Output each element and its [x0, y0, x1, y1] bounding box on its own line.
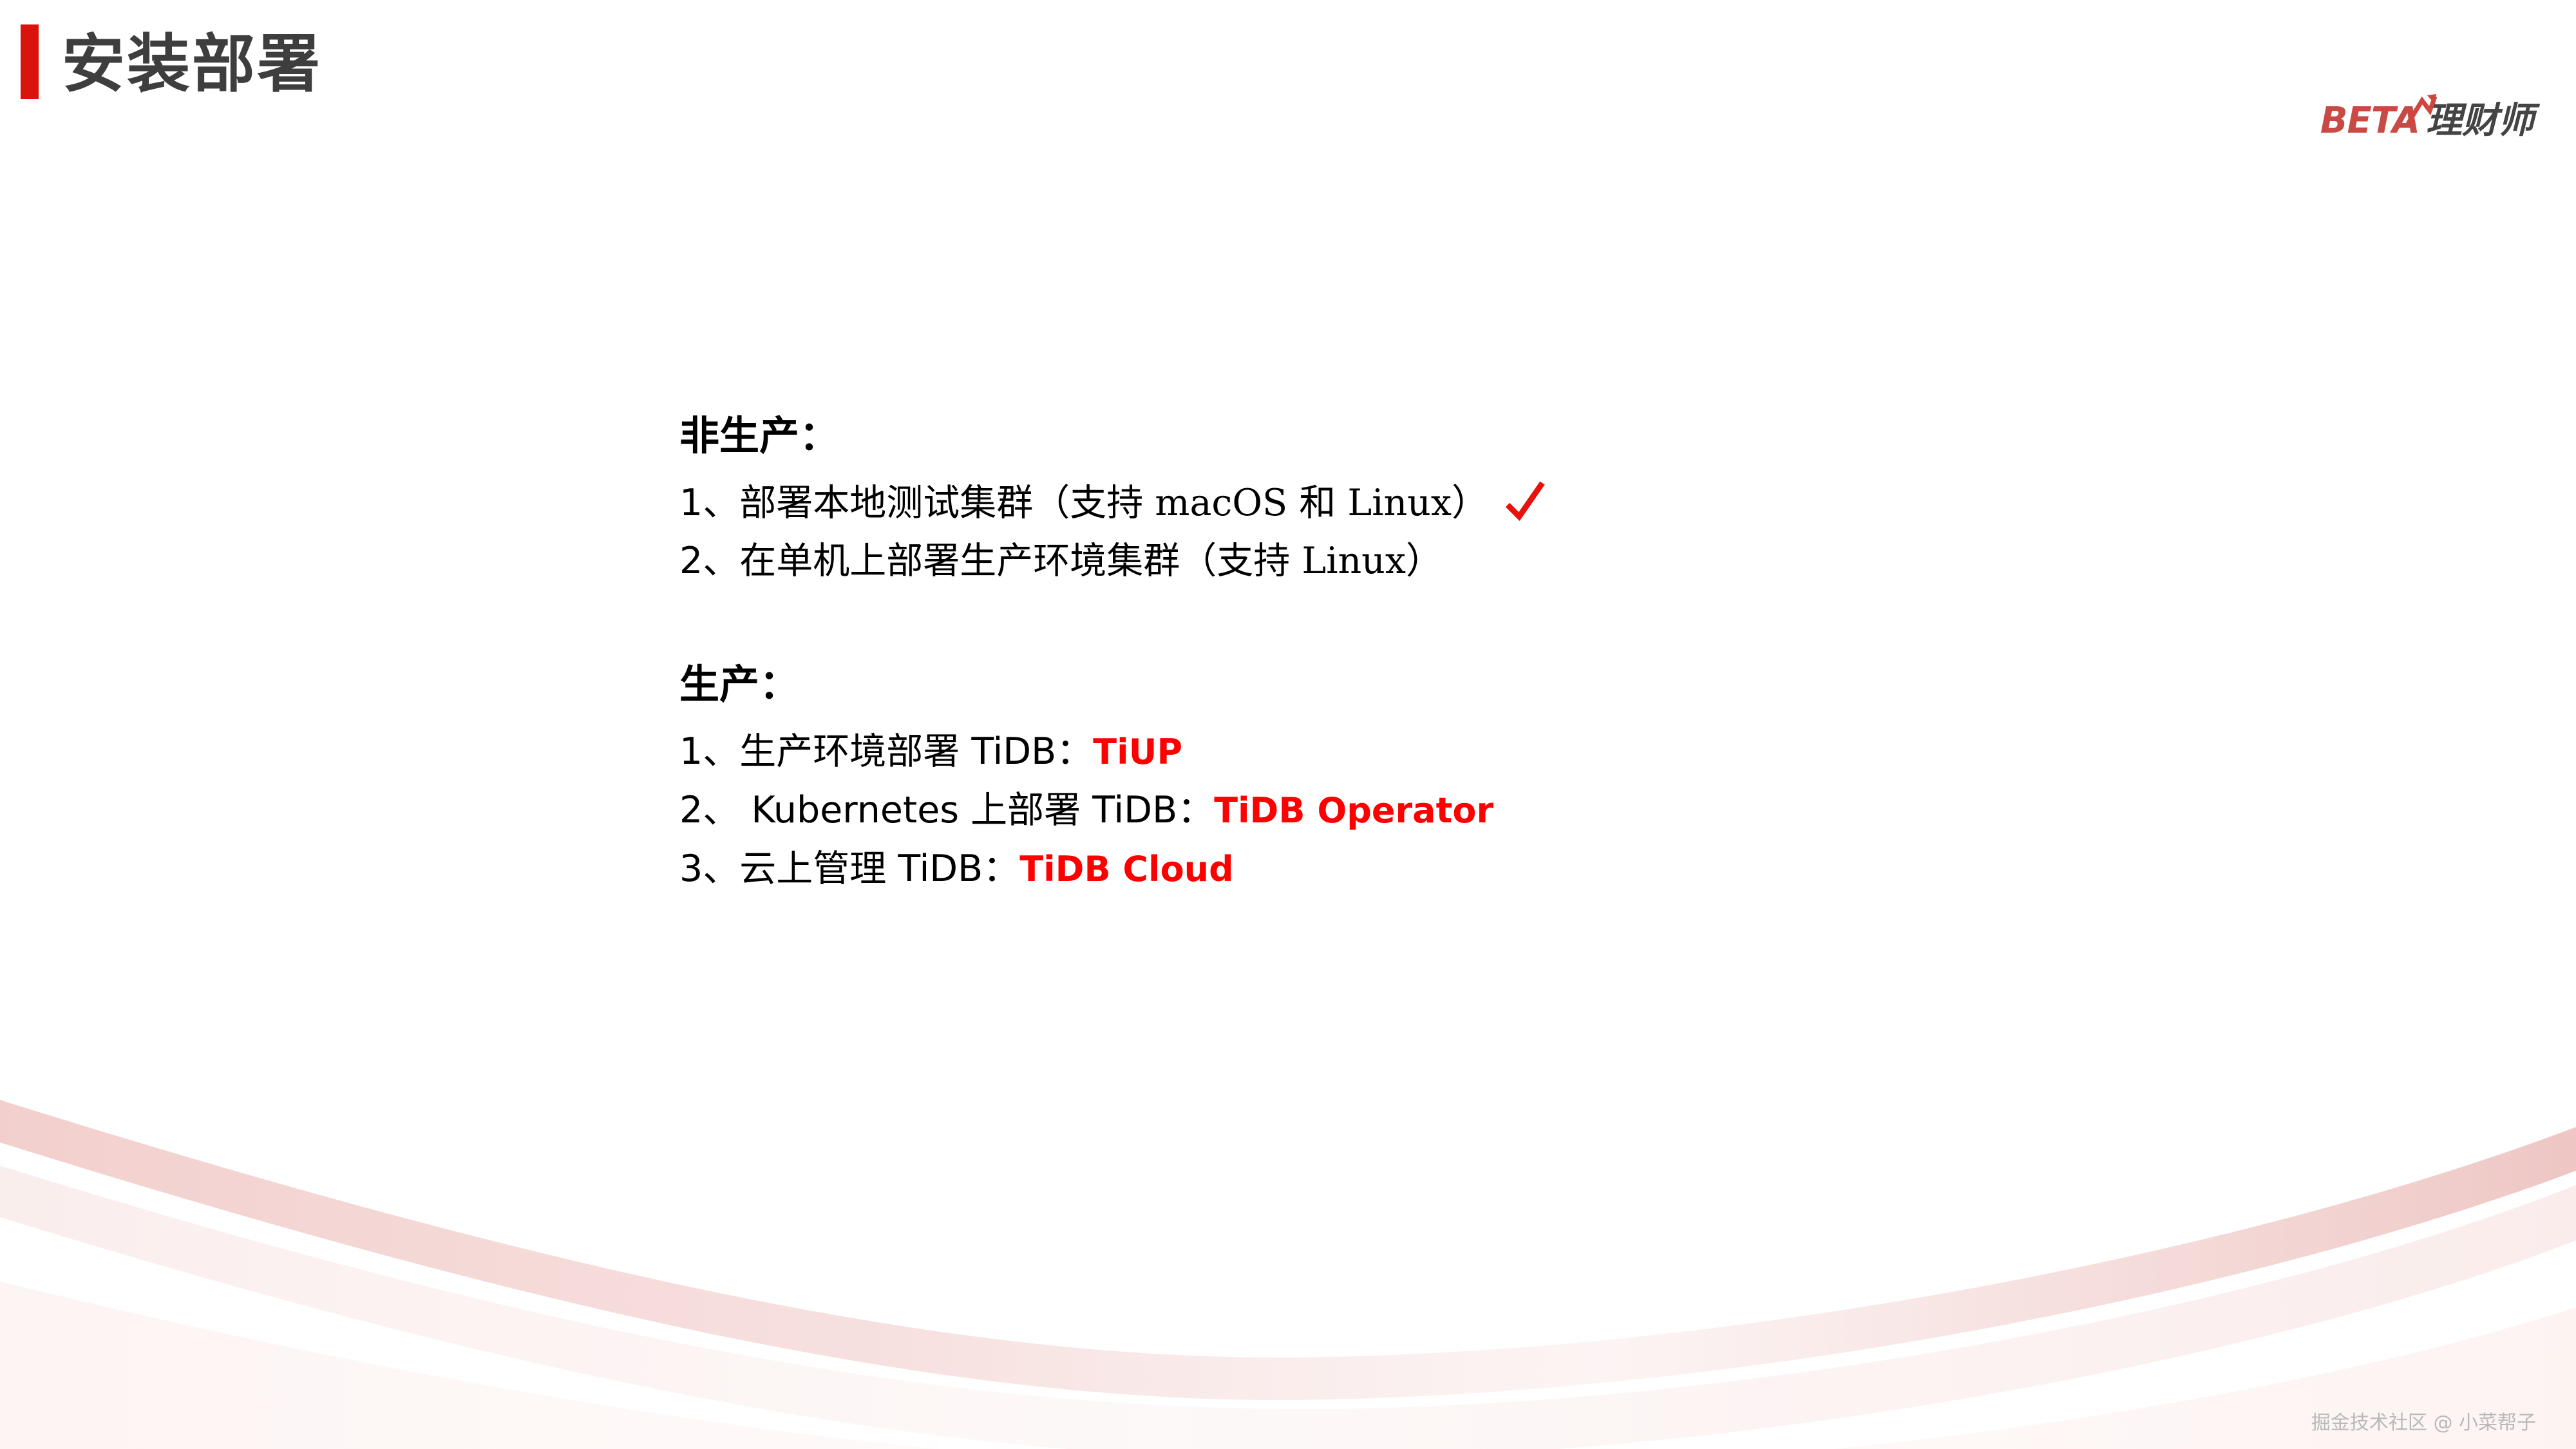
- watermark: 掘金技术社区 @ 小菜帮子: [2311, 1412, 2536, 1435]
- list-item: 1、部署本地测试集群（支持 macOS 和 Linux）: [679, 474, 2225, 532]
- list-item-latin-2: Linux: [1347, 482, 1452, 524]
- title-accent-bar: [21, 24, 39, 99]
- list-item-text-post: ）: [1452, 482, 1488, 524]
- page-title: 安装部署: [62, 27, 322, 102]
- brand-logo-latin-text: BETA: [2320, 100, 2420, 142]
- list-item-highlight: TiDB Cloud: [1019, 849, 1233, 889]
- check-mark-icon: [1502, 479, 1548, 524]
- list-item-latin: macOS: [1155, 482, 1287, 524]
- list-item-number: 1、: [679, 482, 739, 524]
- decorative-swoosh: [0, 1088, 2576, 1449]
- list-item-highlight: TiDB Operator: [1214, 790, 1493, 831]
- section-heading-non-production: 非生产：: [679, 412, 2225, 460]
- list-item-text-mid: ：: [1056, 730, 1093, 773]
- list-item-number: 2、: [679, 540, 739, 582]
- section-spacer: [679, 590, 2225, 661]
- list-item: 3、云上管理 TiDB：TiDB Cloud: [679, 840, 2225, 898]
- content-body: 非生产： 1、部署本地测试集群（支持 macOS 和 Linux） 2、在单机上…: [679, 412, 2225, 898]
- list-item-latin: TiDB: [898, 848, 983, 890]
- list-item-text: 部署本地测试集群（支持: [739, 482, 1155, 524]
- list-item-number: 3、: [679, 848, 739, 890]
- list-item-number: 2、: [679, 789, 739, 831]
- list-item-text: 生产环境部署: [739, 730, 971, 773]
- list-item-text-mid: 和: [1287, 482, 1347, 524]
- list-item-text: 在单机上部署生产环境集群（支持: [739, 540, 1302, 582]
- section-heading-production: 生产：: [679, 661, 2225, 708]
- list-item-latin: Linux: [1302, 540, 1406, 582]
- slide-canvas: 安装部署 BETA 理财师 非生产： 1、部署本地测试集群（支持 macOS 和…: [0, 0, 2576, 1449]
- list-item: 2、 Kubernetes 上部署 TiDB：TiDB Operator: [679, 781, 2225, 840]
- brand-logo-cn: 理财师: [2426, 102, 2534, 140]
- list-item-text-mid: ：: [1177, 789, 1214, 831]
- list-item-number: 1、: [679, 730, 739, 773]
- section-production: 生产： 1、生产环境部署 TiDB：TiUP 2、 Kubernetes 上部署…: [679, 661, 2225, 898]
- list-item-text: Kubernetes 上部署: [739, 789, 1092, 831]
- list-item: 2、在单机上部署生产环境集群（支持 Linux）: [679, 532, 2225, 590]
- list-item-latin: TiDB: [971, 730, 1056, 773]
- list-item-latin: TiDB: [1092, 789, 1177, 831]
- list-item-highlight: TiUP: [1093, 732, 1182, 772]
- list-item-text-mid: ：: [983, 848, 1019, 890]
- list-item-text: 云上管理: [739, 848, 898, 890]
- list-item: 1、生产环境部署 TiDB：TiUP: [679, 723, 2225, 781]
- list-item-text-post: ）: [1406, 540, 1443, 582]
- brand-logo-latin: BETA: [2320, 102, 2420, 140]
- brand-logo: BETA 理财师: [2320, 102, 2534, 147]
- section-non-production: 非生产： 1、部署本地测试集群（支持 macOS 和 Linux） 2、在单机上…: [679, 412, 2225, 590]
- slide-header: 安装部署 BETA 理财师: [0, 0, 2576, 148]
